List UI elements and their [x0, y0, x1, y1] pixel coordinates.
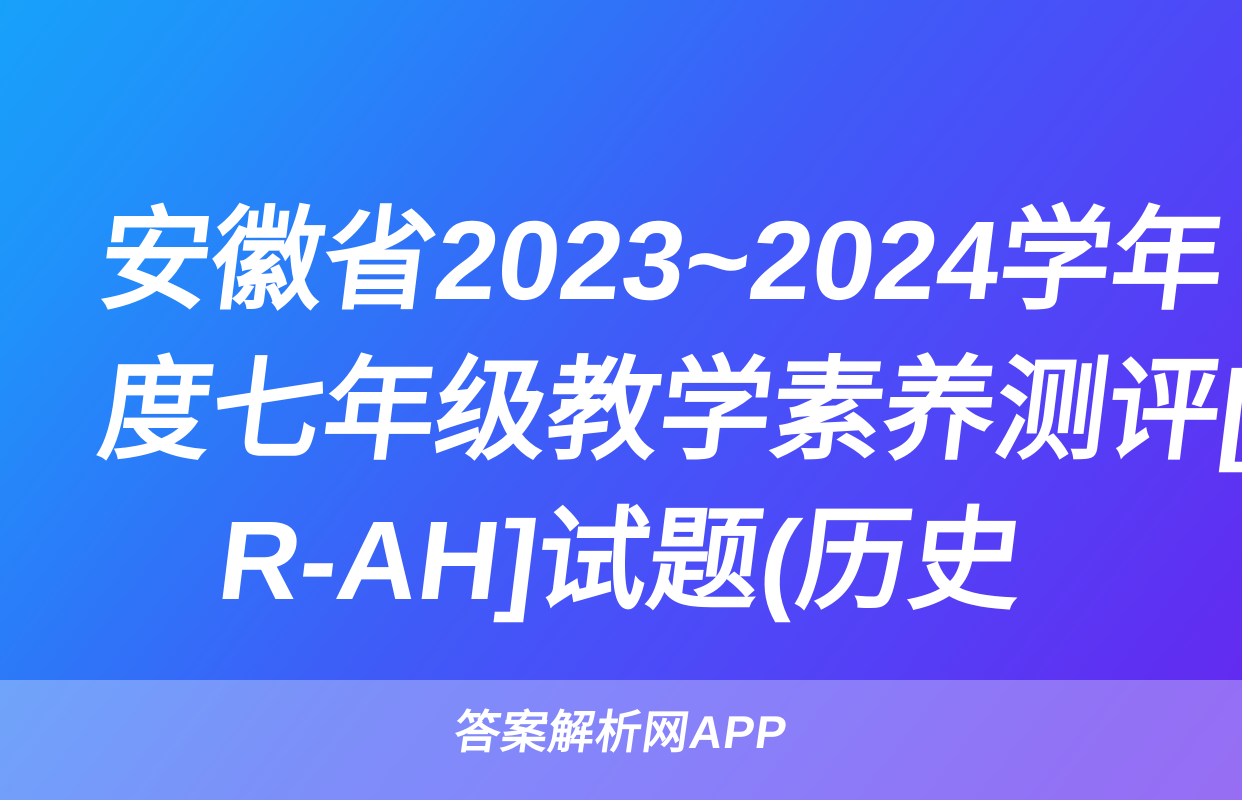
title-char: 养: [875, 336, 1005, 486]
page-title: 安徽省2023~2024学年 度七年级教学素养测评[ R-AH]试题(历史: [100, 186, 1142, 636]
title-char: 年: [1103, 186, 1233, 336]
title-card: 安徽省2023~2024学年 度七年级教学素养测评[ R-AH]试题(历史 答案…: [0, 0, 1242, 800]
title-char: 省: [315, 186, 445, 336]
watermark-label: 答案解析网APP: [0, 704, 1242, 760]
title-char: 学: [651, 336, 781, 486]
title-char: 素: [763, 336, 893, 486]
title-char: 年: [315, 336, 445, 486]
title-line-2: 度七年级教学素养测评[: [91, 336, 1151, 486]
title-char: 级: [427, 336, 557, 486]
title-char: 学: [991, 186, 1121, 336]
title-char: 安: [91, 186, 221, 336]
title-char: 教: [539, 336, 669, 486]
title-line-3: R-AH]试题(历史: [91, 486, 1151, 636]
title-line-1: 安徽省2023~2024学年: [91, 186, 1151, 336]
title-char: 徽: [203, 186, 333, 336]
title-char: 七: [203, 336, 333, 486]
title-char: 评: [1099, 336, 1229, 486]
title-char: 度: [91, 336, 221, 486]
title-char: 测: [987, 336, 1117, 486]
